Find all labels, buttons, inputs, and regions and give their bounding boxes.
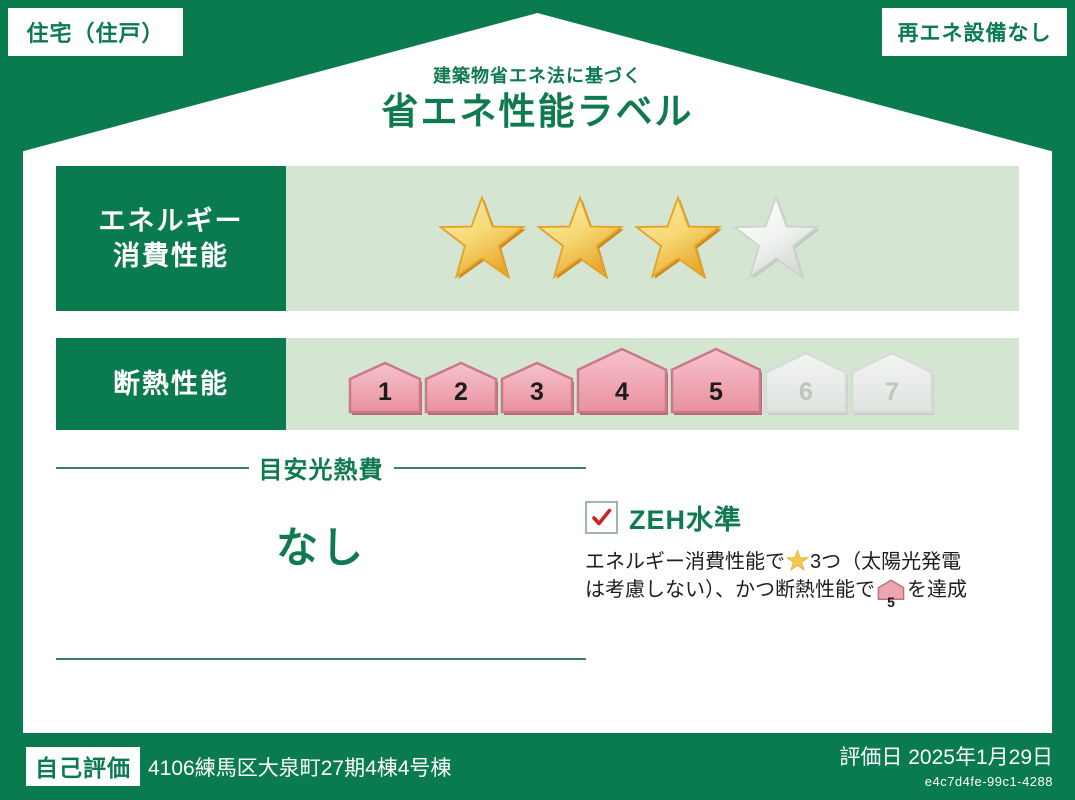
building-type-tag-label: 住宅（住戸）	[26, 16, 164, 48]
zeh-checkbox[interactable]	[585, 501, 618, 534]
utility-cost-heading: 目安光熱費	[56, 450, 586, 485]
insulation-label-line1: 断熱性能	[113, 367, 229, 402]
star-filled-icon	[436, 193, 528, 285]
zeh-description: エネルギー消費性能で3つ（太陽光発電は考慮しない）、かつ断熱性能で5を達成	[585, 548, 1035, 610]
energy-performance-row: エネルギー 消費性能	[56, 166, 1019, 311]
zeh-desc-part4: を達成	[907, 579, 967, 601]
footer-bar: 自己評価 4106練馬区大泉町27期4棟4号棟 評価日 2025年1月29日 e…	[0, 733, 1075, 800]
star-filled-icon	[632, 193, 724, 285]
check-icon	[591, 507, 612, 528]
insulation-grade-1: 1	[348, 360, 422, 416]
label-id: e4c7d4fe-99c1-4288	[839, 774, 1053, 789]
insulation-performance-row: 断熱性能 1234567	[56, 338, 1019, 430]
inline-grade-number: 5	[877, 595, 905, 609]
grade-number: 2	[424, 378, 498, 407]
energy-performance-label: 住宅（住戸） 再エネ設備なし 建築物省エネ法に基づく 省エネ性能ラベル エネルギ…	[0, 0, 1075, 800]
zeh-title-line: ZEH水準	[585, 498, 1035, 537]
zeh-desc-part2: 3つ（太陽光発電	[810, 551, 961, 573]
utility-cost-bottom-rule	[56, 658, 586, 660]
zeh-desc-part1: エネルギー消費性能で	[585, 551, 785, 573]
grade-number: 4	[576, 378, 668, 407]
inline-grade-house-icon: 5	[877, 579, 905, 609]
grade-number: 6	[764, 378, 848, 407]
heading-rule-left	[56, 467, 249, 469]
insulation-grade-6: 6	[764, 350, 848, 416]
building-type-tag: 住宅（住戸）	[8, 8, 183, 56]
utility-cost-value: なし	[56, 514, 586, 575]
footer-left: 自己評価 4106練馬区大泉町27期4棟4号棟	[26, 747, 451, 786]
energy-performance-label: エネルギー 消費性能	[56, 166, 286, 311]
building-name: 4106練馬区大泉町27期4棟4号棟	[148, 752, 451, 782]
energy-label-line2: 消費性能	[113, 239, 229, 274]
lower-panel: 目安光熱費 なし ZEH水準 エネルギー消費性能で3つ（太陽光発電は考慮しない）…	[23, 436, 1052, 733]
title-subtitle: 建築物省エネ法に基づく	[0, 62, 1075, 88]
evaluation-date: 評価日 2025年1月29日	[839, 741, 1053, 771]
insulation-grade-2: 2	[424, 360, 498, 416]
grade-number: 3	[500, 378, 574, 407]
zeh-standard-block: ZEH水準 エネルギー消費性能で3つ（太陽光発電は考慮しない）、かつ断熱性能で5…	[585, 498, 1035, 610]
utility-cost-heading-label: 目安光熱費	[259, 450, 384, 485]
insulation-performance-label: 断熱性能	[56, 338, 286, 430]
page-title: 建築物省エネ法に基づく 省エネ性能ラベル	[0, 62, 1075, 133]
grade-number: 5	[670, 378, 762, 407]
energy-label-line1: エネルギー	[99, 204, 244, 239]
insulation-grade-scale: 1234567	[286, 338, 1019, 430]
star-empty-icon	[730, 193, 822, 285]
insulation-grade-5: 5	[670, 346, 762, 416]
star-rating	[286, 166, 1019, 311]
renewable-energy-tag-label: 再エネ設備なし	[898, 17, 1052, 47]
zeh-desc-part3: は考慮しない）、かつ断熱性能で	[585, 579, 875, 601]
insulation-grade-4: 4	[576, 346, 668, 416]
insulation-grade-3: 3	[500, 360, 574, 416]
inline-star-icon	[786, 549, 809, 572]
insulation-grade-7: 7	[850, 350, 934, 416]
star-filled-icon	[534, 193, 626, 285]
grade-number: 1	[348, 378, 422, 407]
renewable-energy-tag: 再エネ設備なし	[882, 8, 1067, 56]
zeh-title: ZEH水準	[629, 498, 742, 537]
grade-number: 7	[850, 378, 934, 407]
title-main: 省エネ性能ラベル	[0, 92, 1075, 133]
heading-rule-right	[394, 467, 587, 469]
self-evaluation-badge: 自己評価	[26, 747, 140, 786]
footer-right: 評価日 2025年1月29日 e4c7d4fe-99c1-4288	[839, 741, 1053, 789]
